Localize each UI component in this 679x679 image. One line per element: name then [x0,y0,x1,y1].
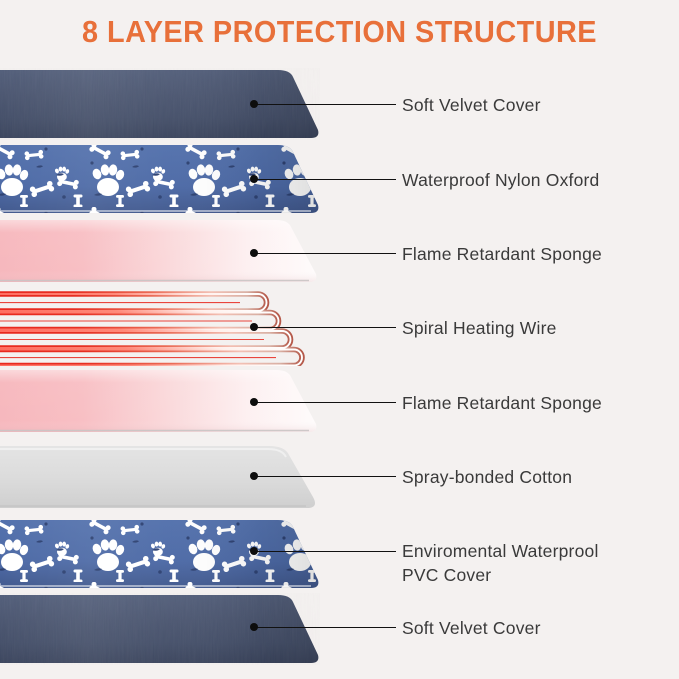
leader-line-2 [254,179,396,180]
leader-line-3 [254,253,396,254]
layer-7-enviromental-waterproof-pvc-cover [0,518,320,590]
layer-5-flame-retardant-sponge [0,368,320,434]
layer-8-soft-velvet-cover [0,593,320,665]
leader-line-5 [254,402,396,403]
callout-dot-3 [250,249,258,257]
layer-label-1: Soft Velvet Cover [402,93,541,117]
layer-label-8: Soft Velvet Cover [402,616,541,640]
leader-line-1 [254,104,396,105]
layer-label-7: Enviromental Waterprool PVC Cover [402,539,599,587]
sponge-slab [0,218,320,284]
callout-dot-6 [250,472,258,480]
layer-3-flame-retardant-sponge [0,218,320,284]
callout-dot-2 [250,175,258,183]
layer-6-spray-bonded-cotton [0,443,320,511]
callout-dot-4 [250,323,258,331]
callout-dot-8 [250,623,258,631]
leader-line-8 [254,627,396,628]
layer-label-6: Spray-bonded Cotton [402,465,572,489]
leader-line-4 [254,327,396,328]
leader-line-6 [254,476,396,477]
layer-label-4: Spiral Heating Wire [402,316,557,340]
layer-label-5: Flame Retardant Sponge [402,391,602,415]
layer-label-2: Waterproof Nylon Oxford [402,168,600,192]
cotton-slab [0,443,320,511]
callout-dot-7 [250,547,258,555]
velvet-slab-bottom [0,593,320,665]
page-title: 8 LAYER PROTECTION STRUCTURE [24,14,655,50]
pvc-paw-print-slab [0,518,320,590]
callout-dot-1 [250,100,258,108]
leader-line-7 [254,551,396,552]
callout-dot-5 [250,398,258,406]
infographic-canvas: 8 LAYER PROTECTION STRUCTURE [0,0,679,679]
layer-label-3: Flame Retardant Sponge [402,242,602,266]
sponge-slab-lower [0,368,320,434]
